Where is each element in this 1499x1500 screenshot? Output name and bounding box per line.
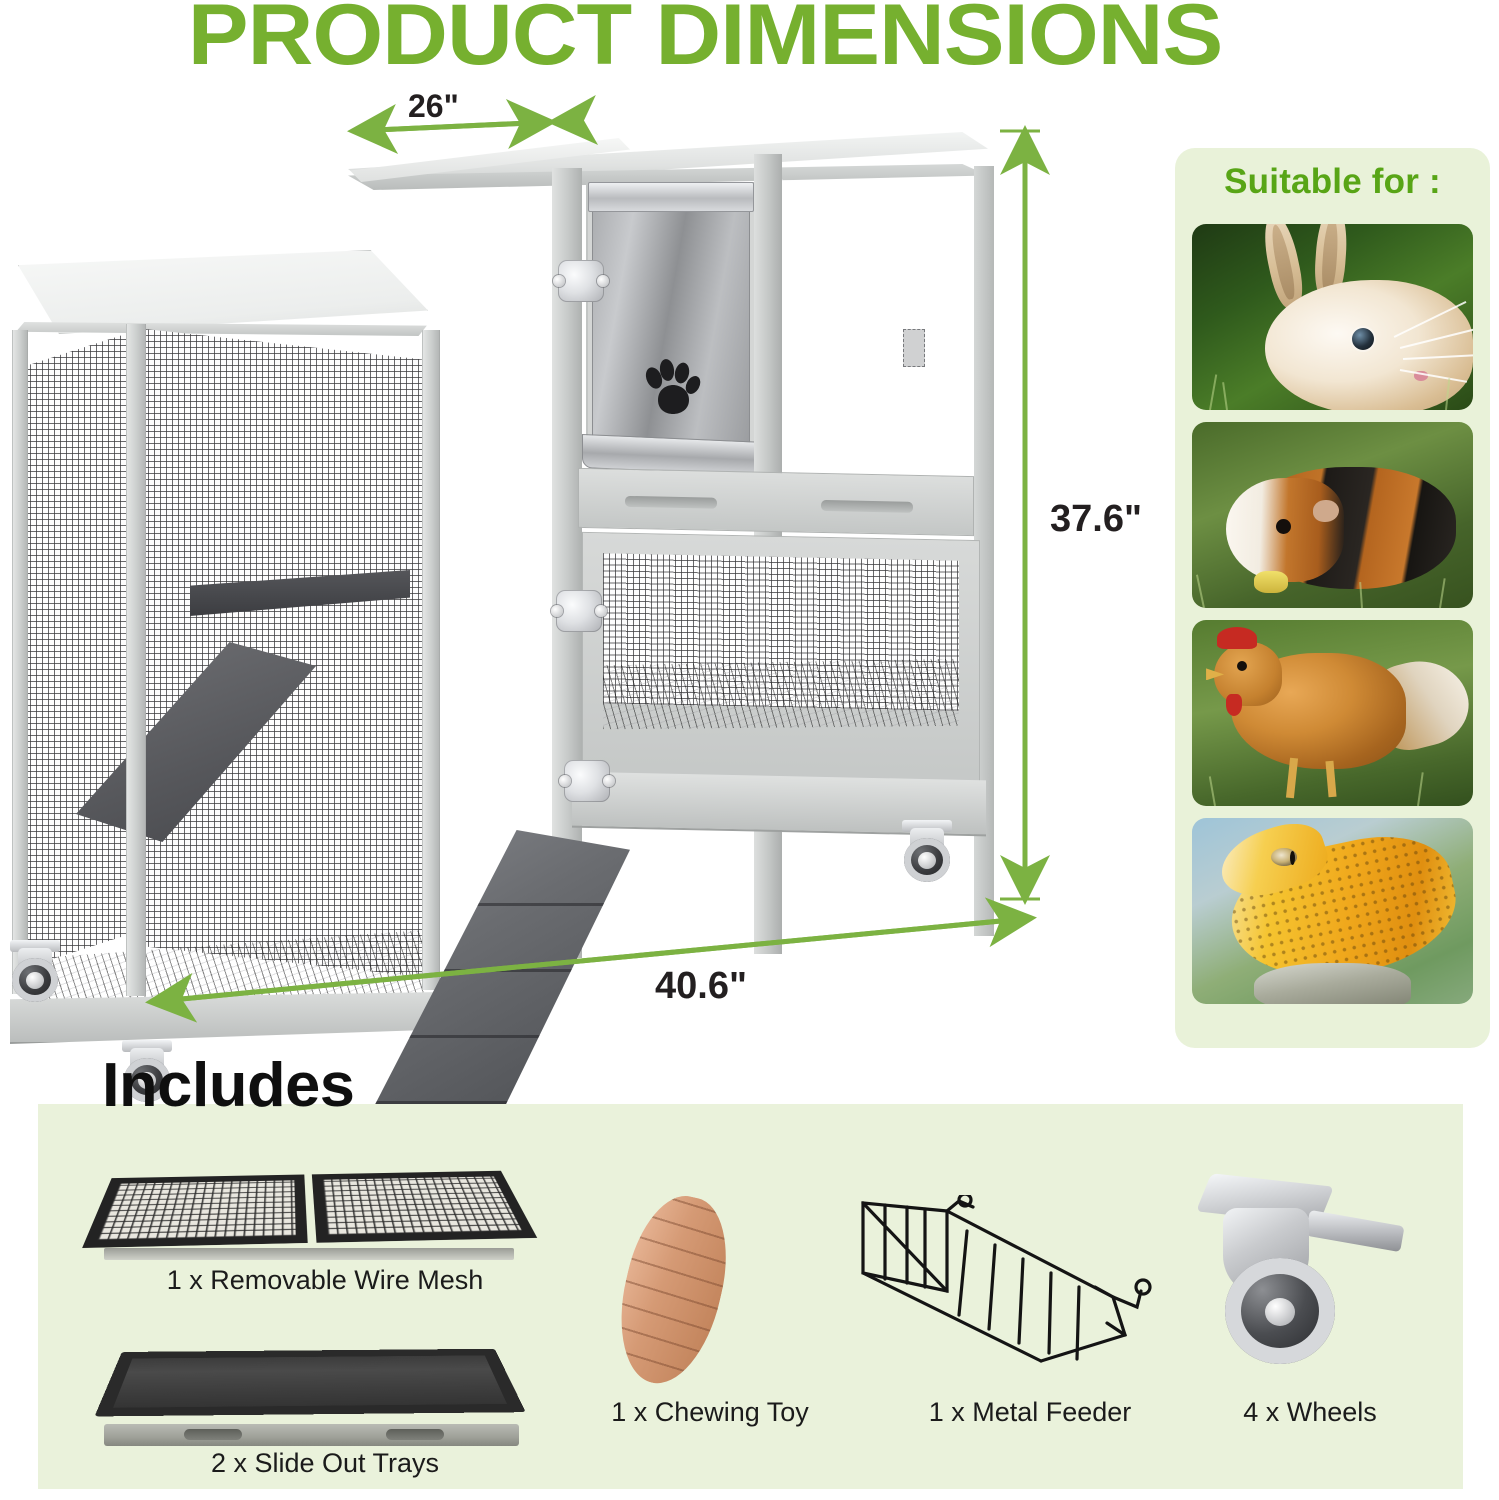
- includes-item-metal-feeder-art: [855, 1195, 1155, 1370]
- feeder-slot: [903, 329, 925, 367]
- includes-item-chewing-toy-label: 1 x Chewing Toy: [560, 1397, 860, 1428]
- wire-mesh-base-rail: [104, 1248, 514, 1260]
- includes-item-trays-label: 2 x Slide Out Trays: [100, 1448, 550, 1479]
- dimension-height-label: 37.6": [1050, 498, 1142, 541]
- run-side-mesh: [18, 330, 138, 970]
- run-post-left: [12, 330, 28, 994]
- caster-rear-right[interactable]: [900, 820, 956, 882]
- includes-item-trays-art: [95, 1349, 526, 1417]
- caster-hub: [918, 852, 936, 869]
- caster-front-left[interactable]: [8, 940, 64, 1002]
- slide-out-drawer[interactable]: [578, 468, 974, 536]
- page-title: PRODUCT DIMENSIONS: [180, 0, 1229, 85]
- includes-title: Includes: [102, 1050, 354, 1121]
- run-top-lid[interactable]: [18, 250, 428, 334]
- infographic-root: PRODUCT DIMENSIONS: [0, 0, 1499, 1500]
- includes-item-wire-mesh-label: 1 x Removable Wire Mesh: [100, 1265, 550, 1296]
- wall-panel-right: [780, 150, 990, 470]
- suitable-for-panel: Suitable for :: [1175, 148, 1490, 1048]
- pet-photo-chicken: [1192, 620, 1473, 806]
- pet-photo-leopard-gecko: [1192, 818, 1473, 1004]
- includes-item-metal-feeder-label: 1 x Metal Feeder: [880, 1397, 1180, 1428]
- run-post-right: [422, 330, 440, 990]
- hinge-middle[interactable]: [556, 590, 602, 632]
- mesh-run-enclosure: [10, 250, 430, 1010]
- drawer-handle-left[interactable]: [625, 496, 717, 509]
- suitable-for-title: Suitable for :: [1175, 162, 1490, 202]
- pet-photo-guinea-pig: [1192, 422, 1473, 608]
- feeder-top-rail: [588, 182, 754, 212]
- run-base-rail: [10, 992, 442, 1044]
- caster-brake-lever: [1305, 1210, 1404, 1252]
- caster-wheel-hub: [1265, 1298, 1295, 1326]
- includes-item-wheels-art: [1195, 1180, 1410, 1370]
- run-front-mesh: [136, 328, 432, 978]
- caster-hub: [26, 972, 44, 989]
- includes-item-wire-mesh-art: [82, 1171, 537, 1248]
- lower-compartment: [582, 532, 980, 790]
- run-top-lip: [16, 322, 431, 336]
- run-post-center: [126, 324, 146, 996]
- dimension-width-label: 26": [408, 88, 459, 125]
- tray-front-lip: [104, 1424, 519, 1446]
- hinge-bottom[interactable]: [564, 760, 610, 802]
- pet-photo-rabbit: [1192, 224, 1473, 410]
- dimension-depth-label: 40.6": [655, 965, 747, 1008]
- drawer-handle-right[interactable]: [821, 500, 913, 513]
- includes-item-wheels-label: 4 x Wheels: [1180, 1397, 1440, 1428]
- paw-print-icon: [640, 358, 704, 418]
- product-illustration: [0, 110, 1060, 1070]
- hinge-top[interactable]: [558, 260, 604, 302]
